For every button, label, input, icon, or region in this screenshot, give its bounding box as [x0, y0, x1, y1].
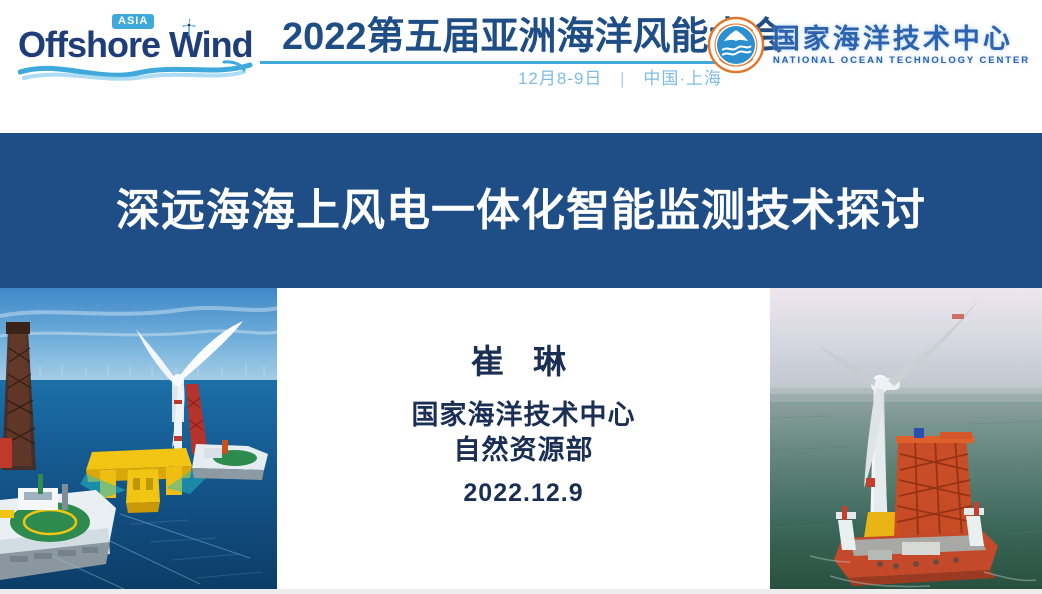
presenter-ministry: 自然资源部: [454, 433, 594, 468]
wave-graphic-icon: [18, 56, 258, 84]
title-band: 深远海海上风电一体化智能监测技术探讨: [0, 133, 1042, 288]
conference-title: 2022第五届亚洲海洋风能大会: [282, 14, 722, 60]
organization-name-cn: 国家海洋技术中心: [773, 24, 1030, 54]
ocean-technology-center-emblem-icon: [707, 16, 765, 74]
conference-title-underline: [260, 61, 720, 64]
presenter-name: 崔 琳: [471, 340, 576, 384]
offshore-wind-asia-logo: Offshore Wind ASIA: [18, 12, 250, 84]
slide-body: 崔 琳 国家海洋技术中心 自然资源部 2022.12.9: [0, 288, 1042, 589]
floating-offshore-wind-turbine-photo: [0, 288, 277, 589]
presentation-slide: Offshore Wind ASIA 2022第五届亚: [0, 0, 1042, 594]
presenter-info-block: 崔 琳 国家海洋技术中心 自然资源部 2022.12.9: [277, 288, 770, 589]
presenter-organization: 国家海洋技术中心: [412, 398, 636, 433]
jacket-foundation-wind-turbine-photo: [770, 288, 1042, 589]
slide-header: Offshore Wind ASIA 2022第五届亚: [0, 0, 1042, 133]
wind-turbine-icon: [181, 18, 197, 36]
page-title: 深远海海上风电一体化智能监测技术探讨: [116, 183, 926, 239]
national-ocean-technology-center-logo: 国家海洋技术中心 NATIONAL OCEAN TECHNOLOGY CENTE…: [707, 14, 1030, 76]
footer-strip: [0, 589, 1042, 594]
subtitle-separator: |: [608, 69, 637, 88]
organization-name-en: NATIONAL OCEAN TECHNOLOGY CENTER: [773, 54, 1030, 67]
presentation-date: 2022.12.9: [463, 476, 583, 510]
conference-subtitle: 12月8-9日 | 中国·上海: [282, 66, 722, 92]
organization-name-block: 国家海洋技术中心 NATIONAL OCEAN TECHNOLOGY CENTE…: [773, 24, 1030, 67]
asia-badge: ASIA: [112, 14, 154, 29]
conference-date: 12月8-9日: [518, 69, 602, 88]
